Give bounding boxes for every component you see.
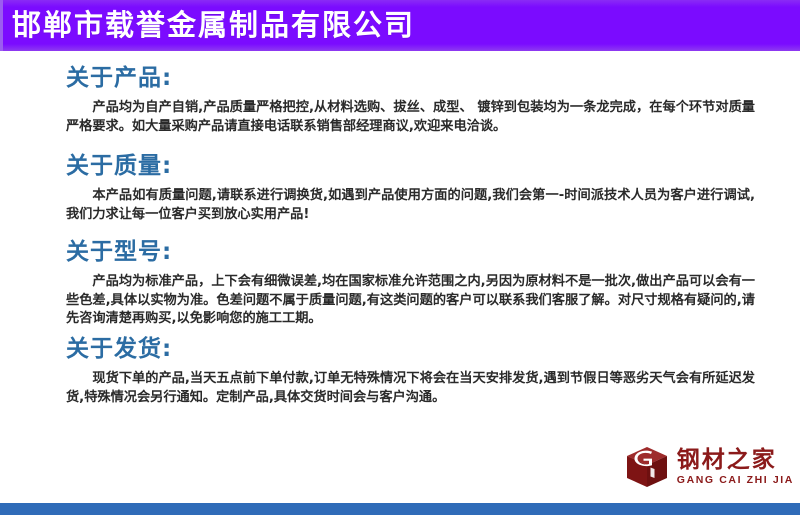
bottom-accent-bar <box>0 503 800 515</box>
red-cube-g-logo-icon <box>625 445 669 489</box>
section-about-model: 关于型号: 产品均为标准产品，上下会有细微误差,均在国家标准允许范围之内,另因为… <box>0 237 800 329</box>
section-about-quality: 关于质量: 本产品如有质量问题,请联系进行调换货,如遇到产品使用方面的问题,我们… <box>0 151 800 224</box>
section-body-shipping: 现货下单的产品,当天五点前下单付款,订单无特殊情况下将会在当天安排发货,遇到节假… <box>66 370 755 407</box>
brand-name-en: GANG CAI ZHI JIA <box>677 475 794 486</box>
section-heading-product: 关于产品: <box>66 63 800 93</box>
section-heading-shipping: 关于发货: <box>66 334 800 364</box>
section-heading-quality: 关于质量: <box>66 151 800 181</box>
section-heading-model: 关于型号: <box>66 237 800 267</box>
header-banner: 邯郸市载誉金属制品有限公司 <box>0 0 800 51</box>
promo-page: 邯郸市载誉金属制品有限公司 关于产品: 产品均为自产自销,产品质量严格把控,从材… <box>0 0 800 515</box>
company-name-title: 邯郸市载誉金属制品有限公司 <box>12 6 415 44</box>
brand-name-cn: 钢材之家 <box>677 449 777 472</box>
content-area: 关于产品: 产品均为自产自销,产品质量严格把控,从材料选购、拔丝、成型、 镀锌到… <box>0 51 800 451</box>
section-about-shipping: 关于发货: 现货下单的产品,当天五点前下单付款,订单无特殊情况下将会在当天安排发… <box>0 334 800 407</box>
brand-text: 钢材之家 GANG CAI ZHI JIA <box>677 449 794 486</box>
brand-logo: 钢材之家 GANG CAI ZHI JIA <box>625 445 794 489</box>
section-body-quality: 本产品如有质量问题,请联系进行调换货,如遇到产品使用方面的问题,我们会第一-时间… <box>66 187 755 224</box>
section-about-product: 关于产品: 产品均为自产自销,产品质量严格把控,从材料选购、拔丝、成型、 镀锌到… <box>0 63 800 136</box>
section-body-product: 产品均为自产自销,产品质量严格把控,从材料选购、拔丝、成型、 镀锌到包装均为一条… <box>66 99 755 136</box>
section-body-model: 产品均为标准产品，上下会有细微误差,均在国家标准允许范围之内,另因为原材料不是一… <box>66 273 755 329</box>
